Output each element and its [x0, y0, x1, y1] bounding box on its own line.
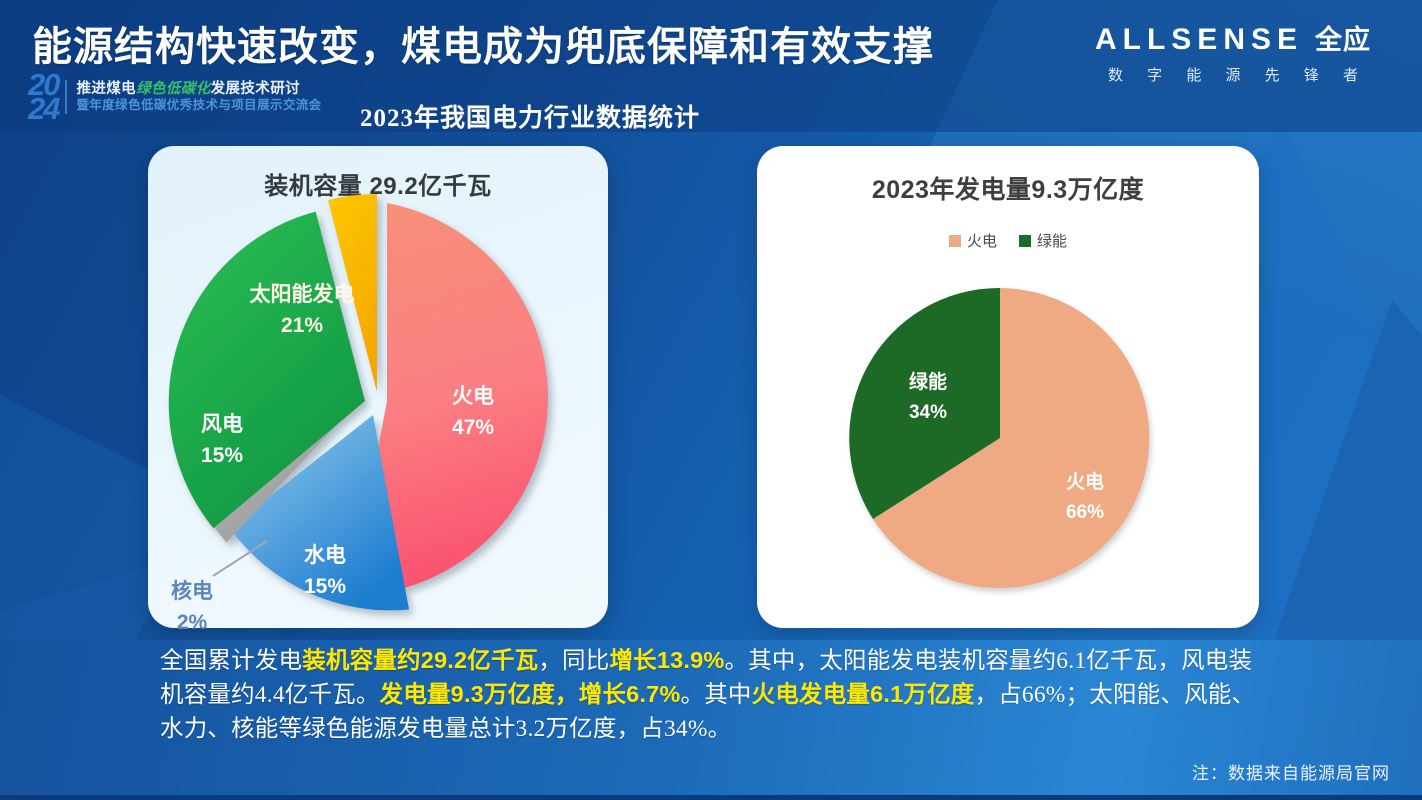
slice-label-fengdian-name: 风电	[201, 413, 243, 436]
page-subtitle: 2023年我国电力行业数据统计	[0, 98, 1060, 134]
installed-capacity-pie-chart: 火电 47% 太阳能发电 21% 风电 15% 水电 15% 核电 2%	[155, 186, 605, 626]
summary-segment-7: 火电发电量6.1万亿度	[752, 681, 975, 707]
slice-label-huodian-name: 火电	[1066, 470, 1104, 493]
page-title: 能源结构快速改变，煤电成为兜底保障和有效支撑	[32, 14, 934, 72]
power-generation-pie-chart: 绿能 34% 火电 66%	[840, 278, 1180, 618]
slice-label-fengdian-value: 15%	[201, 444, 243, 467]
slice-label-taiyangneng-value: 21%	[281, 314, 323, 337]
conference-line-1a: 推进煤电	[76, 81, 136, 97]
summary-segment-1: 装机容量约29.2亿千瓦	[302, 647, 538, 673]
slice-label-shuidian-name: 水电	[304, 544, 346, 567]
summary-segment-6: 。其中	[681, 682, 752, 708]
summary-segment-2: ，同比	[538, 648, 609, 674]
summary-segment-5: 发电量9.3万亿度，增长6.7%	[380, 681, 681, 707]
bottom-rule	[0, 795, 1422, 800]
legend-label-lvneng: 绿能	[1037, 230, 1067, 251]
pie-slices	[849, 288, 1149, 588]
brand-name-english: ALLSENSE	[1095, 23, 1303, 57]
legend-label-huodian: 火电	[967, 230, 997, 251]
legend-swatch-lvneng	[1019, 235, 1031, 247]
slice-label-shuidian-value: 15%	[304, 575, 346, 598]
slice-label-hedian-value: 2%	[177, 611, 208, 634]
slice-label-hedian-name: 核电	[171, 579, 213, 603]
slice-label-lvneng-value: 34%	[909, 402, 947, 423]
slide-header: 能源结构快速改变，煤电成为兜底保障和有效支撑 20 24 推进煤电绿色低碳化发展…	[0, 0, 1422, 132]
legend-swatch-huodian	[949, 235, 961, 247]
power-generation-legend: 火电 绿能	[757, 230, 1259, 251]
summary-segment-0: 全国累计发电	[160, 648, 302, 674]
summary-segment-3: 增长13.9%	[609, 647, 724, 673]
source-note: 注：数据来自能源局官网	[1192, 759, 1390, 784]
summary-text: 全国累计发电装机容量约29.2亿千瓦，同比增长13.9%。其中，太阳能发电装机容…	[160, 644, 1275, 746]
allsense-brand-logo: ALLSENSE 全应 数 字 能 源 先 锋 者	[1068, 18, 1398, 85]
conference-line-1: 推进煤电绿色低碳化发展技术研讨	[76, 81, 321, 99]
brand-name-chinese: 全应	[1315, 18, 1371, 57]
conference-line-1c: 发展技术研讨	[211, 81, 300, 97]
brand-primary: ALLSENSE 全应	[1068, 18, 1398, 57]
legend-item-huodian[interactable]: 火电	[949, 230, 997, 251]
brand-tagline: 数 字 能 源 先 锋 者	[1068, 64, 1398, 85]
power-generation-title: 2023年发电量9.3万亿度	[757, 170, 1259, 206]
legend-item-lvneng[interactable]: 绿能	[1019, 230, 1067, 251]
slice-label-taiyangneng-name: 太阳能发电	[250, 282, 355, 306]
slide-canvas: 能源结构快速改变，煤电成为兜底保障和有效支撑 20 24 推进煤电绿色低碳化发展…	[0, 0, 1422, 800]
slice-label-huodian-name: 火电	[452, 385, 494, 408]
slice-label-lvneng-name: 绿能	[909, 370, 947, 393]
slice-label-huodian-value: 66%	[1066, 502, 1104, 523]
slice-label-huodian-value: 47%	[452, 416, 494, 439]
conference-line-1b: 绿色低碳化	[136, 81, 211, 97]
